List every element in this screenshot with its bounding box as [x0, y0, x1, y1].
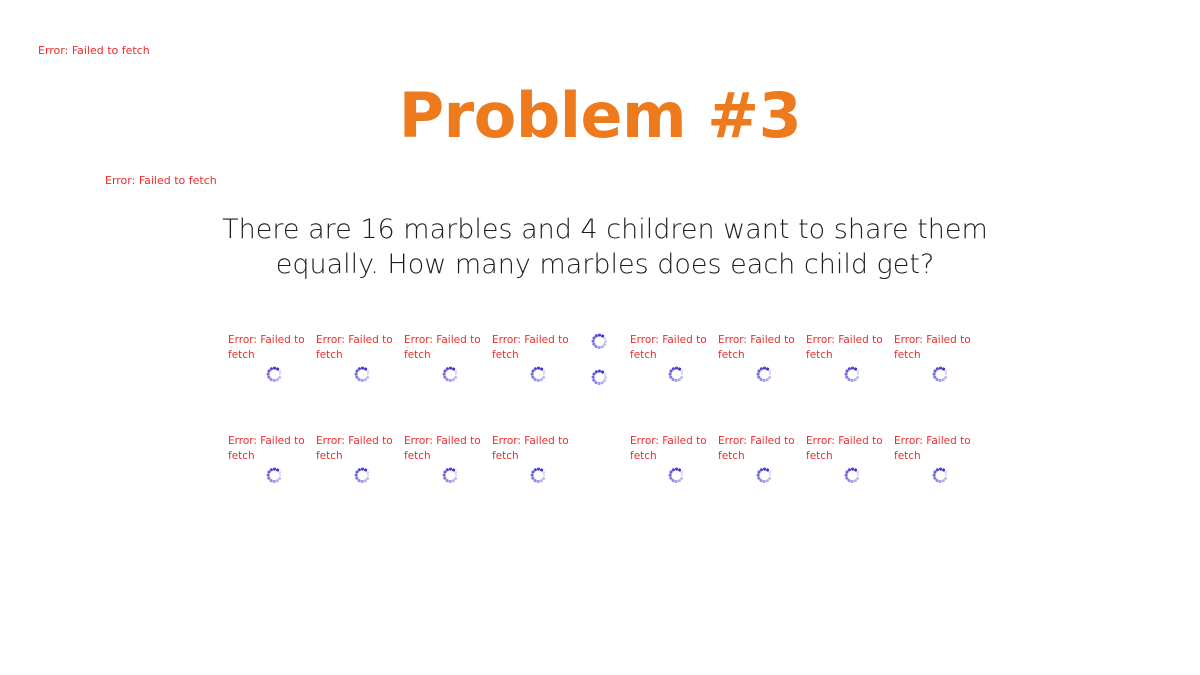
- marble-cell: Error: Failed to fetch: [806, 434, 884, 486]
- marble-cell: Error: Failed to fetch: [492, 333, 570, 385]
- marble-cell: Error: Failed to fetch: [404, 333, 482, 385]
- loading-spinner-icon: [443, 468, 458, 483]
- marble-cell: Error: Failed to fetch: [806, 333, 884, 385]
- marble-cell: Error: Failed to fetch: [894, 333, 972, 385]
- loading-spinner-icon: [757, 468, 772, 483]
- loading-spinner-icon: [531, 367, 546, 382]
- marble-cell-spinner-slot: [806, 464, 884, 486]
- marble-cell-error: Error: Failed to fetch: [492, 434, 570, 464]
- marble-cell: Error: Failed to fetch: [630, 333, 708, 385]
- marble-cell: Error: Failed to fetch: [404, 434, 482, 486]
- marble-cell-spinner-slot: [718, 464, 796, 486]
- page-title: Problem #3: [0, 82, 1200, 150]
- marble-cell-spinner-slot: [316, 363, 394, 385]
- loading-spinner-icon: [669, 468, 684, 483]
- marble-cell-spinner-slot: [718, 363, 796, 385]
- marble-cell-spinner-slot: [404, 363, 482, 385]
- marble-cell-spinner-slot: [492, 464, 570, 486]
- marble-cell-spinner-slot: [228, 363, 306, 385]
- marble-cell: Error: Failed to fetch: [228, 333, 306, 385]
- marble-row: Error: Failed to fetchError: Failed to f…: [222, 434, 982, 535]
- marble-cell-error: Error: Failed to fetch: [894, 434, 972, 464]
- marble-cell-spinner-slot: [492, 363, 570, 385]
- loading-spinner-icon: [592, 334, 607, 349]
- marble-cell-error: Error: Failed to fetch: [316, 333, 394, 363]
- marble-cell: Error: Failed to fetch: [492, 434, 570, 486]
- marble-cell-error: Error: Failed to fetch: [806, 333, 884, 363]
- page-error-banner-top: Error: Failed to fetch: [38, 44, 150, 57]
- marble-cell-error: Error: Failed to fetch: [806, 434, 884, 464]
- loading-spinner-icon: [933, 468, 948, 483]
- loading-spinner-icon: [267, 367, 282, 382]
- loading-spinner-icon: [355, 468, 370, 483]
- marble-cell: Error: Failed to fetch: [228, 434, 306, 486]
- marble-cell-error: Error: Failed to fetch: [228, 333, 306, 363]
- marble-cell-spinner-slot: [630, 363, 708, 385]
- marble-cell-error: Error: Failed to fetch: [492, 333, 570, 363]
- marble-cell-error: Error: Failed to fetch: [718, 333, 796, 363]
- loading-spinner-icon: [845, 367, 860, 382]
- page-error-banner-secondary: Error: Failed to fetch: [105, 174, 217, 187]
- marble-cell-spinner-slot: [228, 464, 306, 486]
- marble-cell-error: Error: Failed to fetch: [316, 434, 394, 464]
- marble-cell-spinner-slot: [894, 464, 972, 486]
- loading-spinner-icon: [267, 468, 282, 483]
- marble-cell: Error: Failed to fetch: [316, 333, 394, 385]
- marble-cell-error: Error: Failed to fetch: [894, 333, 972, 363]
- loading-spinner-icon: [443, 367, 458, 382]
- marble-cell-error: Error: Failed to fetch: [630, 434, 708, 464]
- question-text: There are 16 marbles and 4 children want…: [170, 212, 1040, 282]
- marble-cell-error: Error: Failed to fetch: [630, 333, 708, 363]
- loading-spinner-icon: [531, 468, 546, 483]
- slide-canvas: Error: Failed to fetch Problem #3 Error:…: [0, 0, 1200, 675]
- marble-grid: Error: Failed to fetchError: Failed to f…: [222, 333, 982, 535]
- marble-row: Error: Failed to fetchError: Failed to f…: [222, 333, 982, 434]
- marble-cell-error: Error: Failed to fetch: [228, 434, 306, 464]
- marble-cell: Error: Failed to fetch: [894, 434, 972, 486]
- marble-cell: Error: Failed to fetch: [718, 333, 796, 385]
- marble-loading-bottom: [592, 370, 607, 389]
- loading-spinner-icon: [592, 370, 607, 385]
- marble-cell: Error: Failed to fetch: [718, 434, 796, 486]
- loading-spinner-icon: [933, 367, 948, 382]
- loading-spinner-icon: [757, 367, 772, 382]
- marble-cell: Error: Failed to fetch: [316, 434, 394, 486]
- marble-cell-spinner-slot: [630, 464, 708, 486]
- loading-spinner-icon: [355, 367, 370, 382]
- loading-spinner-icon: [845, 468, 860, 483]
- loading-spinner-icon: [669, 367, 684, 382]
- marble-cell-spinner-slot: [404, 464, 482, 486]
- marble-cell-error: Error: Failed to fetch: [404, 434, 482, 464]
- marble-cell-error: Error: Failed to fetch: [404, 333, 482, 363]
- marble-cell-spinner-slot: [316, 464, 394, 486]
- marble-loading-top: [592, 334, 607, 353]
- marble-cell-spinner-slot: [894, 363, 972, 385]
- marble-cell-error: Error: Failed to fetch: [718, 434, 796, 464]
- marble-cell: Error: Failed to fetch: [630, 434, 708, 486]
- marble-cell-spinner-slot: [806, 363, 884, 385]
